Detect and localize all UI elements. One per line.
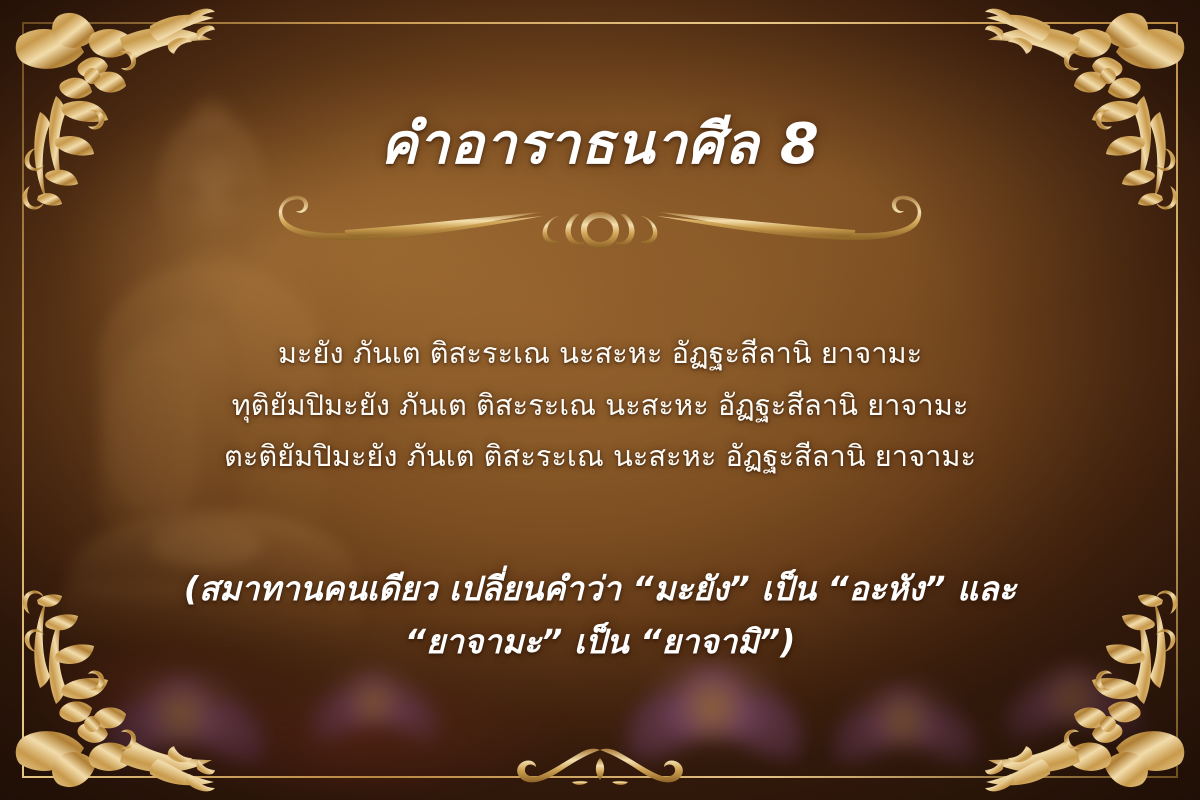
chant-verse-block: มะยัง ภันเต ติสะระเณ นะสะหะ อัฏฐะสีลานิ … [0, 328, 1200, 483]
note-line-1: (สมาทานคนเดียว เปลี่ยนคำว่า “มะยัง” เป็น… [0, 562, 1200, 615]
verse-line-3: ตะติยัมปิมะยัง ภันเต ติสะระเณ นะสะหะ อัฏ… [0, 431, 1200, 483]
page-title: คำอาราธนาศีล 8 [0, 116, 1200, 175]
note-line-2: “ยาจามะ” เป็น “ยาจามิ”) [0, 615, 1200, 668]
instruction-note-block: (สมาทานคนเดียว เปลี่ยนคำว่า “มะยัง” เป็น… [0, 562, 1200, 669]
verse-line-2: ทุติยัมปิมะยัง ภันเต ติสะระเณ นะสะหะ อัฏ… [0, 380, 1200, 432]
poster-canvas: คำอาราธนาศีล 8 มะยัง ภันเต ติสะระเณ นะสะ… [0, 0, 1200, 800]
poster-content: คำอาราธนาศีล 8 มะยัง ภันเต ติสะระเณ นะสะ… [0, 0, 1200, 800]
verse-line-1: มะยัง ภันเต ติสะระเณ นะสะหะ อัฏฐะสีลานิ … [0, 328, 1200, 380]
